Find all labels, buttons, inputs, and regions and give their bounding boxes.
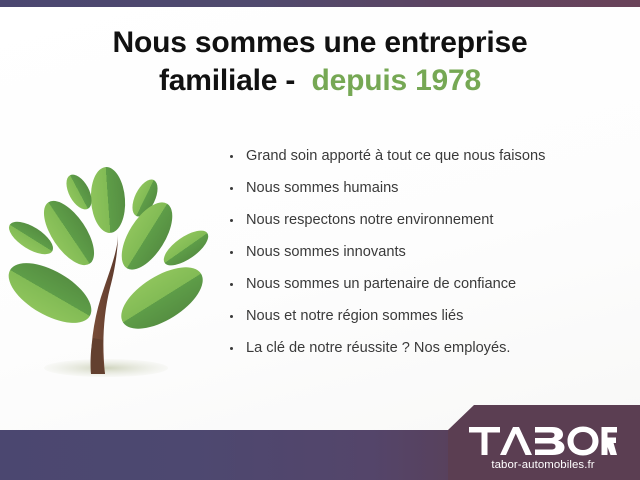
- heading-line-2: familiale - depuis 1978: [0, 64, 640, 98]
- page-title: Nous sommes une entreprise familiale - d…: [0, 26, 640, 97]
- tree-leaf: [89, 166, 128, 234]
- value-bullet-list: Grand soin apporté à tout ce que nous fa…: [228, 148, 628, 372]
- list-item-label: Nous respectons notre environnement: [246, 212, 493, 228]
- list-item-label: La clé de notre réussite ? Nos employés.: [246, 340, 510, 356]
- list-item-label: Nous sommes humains: [246, 180, 398, 196]
- list-item: Nous respectons notre environnement: [228, 212, 628, 230]
- tabor-wordmark-icon: [469, 426, 617, 456]
- list-item-label: Nous sommes un partenaire de confiance: [246, 276, 516, 292]
- list-item: Nous et notre région sommes liés: [228, 308, 628, 326]
- heading-line-1: Nous sommes une entreprise: [0, 26, 640, 60]
- list-item: Nous sommes un partenaire de confiance: [228, 276, 628, 294]
- bullet-dot-icon: [230, 347, 233, 350]
- tree-illustration: [6, 148, 221, 388]
- bullet-dot-icon: [230, 251, 233, 254]
- bullet-dot-icon: [230, 187, 233, 190]
- top-accent-bar: [0, 0, 640, 7]
- brand-logo: tabor-automobiles.fr: [463, 426, 623, 471]
- tree-canopy: [6, 166, 214, 341]
- list-item: La clé de notre réussite ? Nos employés.: [228, 340, 628, 358]
- list-item: Nous sommes innovants: [228, 244, 628, 262]
- list-item: Nous sommes humains: [228, 180, 628, 198]
- bullet-dot-icon: [230, 315, 233, 318]
- brand-tagline: tabor-automobiles.fr: [463, 459, 623, 471]
- list-item-label: Nous et notre région sommes liés: [246, 308, 463, 324]
- heading-line-2-main: familiale -: [159, 64, 295, 97]
- heading-accent-year: depuis 1978: [311, 64, 481, 97]
- bullet-dot-icon: [230, 283, 233, 286]
- list-item-label: Grand soin apporté à tout ce que nous fa…: [246, 148, 545, 164]
- slide-canvas: Nous sommes une entreprise familiale - d…: [0, 0, 640, 480]
- bullet-dot-icon: [230, 155, 233, 158]
- bullet-dot-icon: [230, 219, 233, 222]
- list-item: Grand soin apporté à tout ce que nous fa…: [228, 148, 628, 166]
- list-item-label: Nous sommes innovants: [246, 244, 406, 260]
- tree-shadow: [44, 359, 168, 377]
